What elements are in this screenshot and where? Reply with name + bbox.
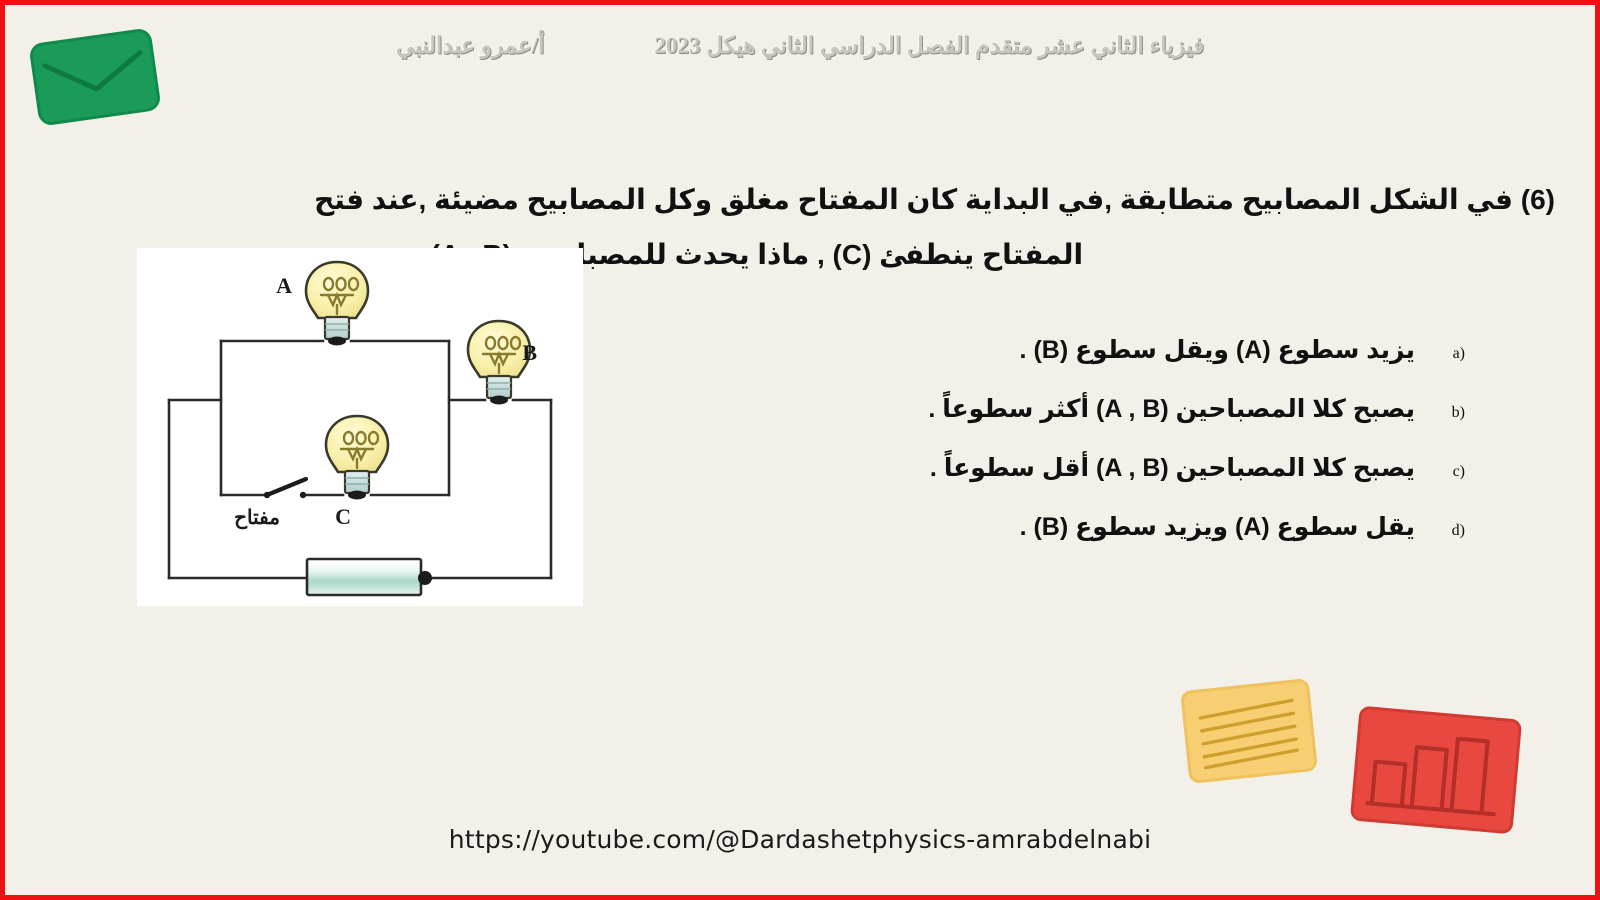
option-a-marker: a) bbox=[1431, 345, 1465, 363]
header-course-title: فيزياء الثاني عشر متقدم الفصل الدراسي ال… bbox=[654, 33, 1204, 59]
option-a[interactable]: يزيد سطوع (A) ويقل سطوع (B) . a) bbox=[145, 335, 1465, 394]
footer-url[interactable]: https://youtube.com/@Dardashetphysics-am… bbox=[5, 825, 1595, 854]
envelope-icon bbox=[28, 27, 162, 127]
option-c-text: يصبح كلا المصباحين (A , B) أقل سطوعاً . bbox=[145, 453, 1431, 483]
option-d[interactable]: يقل سطوع (A) ويزيد سطوع (B) . d) bbox=[145, 512, 1465, 571]
option-b-text: يصبح كلا المصباحين (A , B) أكثر سطوعاً . bbox=[145, 394, 1431, 424]
header-teacher-name: أ/عمرو عبدالنبي bbox=[396, 33, 545, 59]
slide-header: فيزياء الثاني عشر متقدم الفصل الدراسي ال… bbox=[5, 23, 1595, 69]
option-d-marker: d) bbox=[1431, 522, 1465, 540]
option-c[interactable]: يصبح كلا المصباحين (A , B) أقل سطوعاً . … bbox=[145, 453, 1465, 512]
options-list: يزيد سطوع (A) ويقل سطوع (B) . a) يصبح كل… bbox=[145, 335, 1465, 571]
option-b-marker: b) bbox=[1431, 404, 1465, 422]
bar-chart-icon bbox=[1348, 704, 1524, 836]
option-d-text: يقل سطوع (A) ويزيد سطوع (B) . bbox=[145, 512, 1431, 542]
option-c-marker: c) bbox=[1431, 463, 1465, 481]
option-b[interactable]: يصبح كلا المصباحين (A , B) أكثر سطوعاً .… bbox=[145, 394, 1465, 453]
option-a-text: يزيد سطوع (A) ويقل سطوع (B) . bbox=[145, 335, 1431, 365]
svg-text:A: A bbox=[276, 273, 292, 298]
slide-root: فيزياء الثاني عشر متقدم الفصل الدراسي ال… bbox=[0, 0, 1600, 900]
note-lines-icon bbox=[1178, 676, 1319, 785]
lamp-a bbox=[306, 262, 368, 346]
question-line-1: (6) في الشكل المصابيح متطابقة ,في البداي… bbox=[314, 184, 1555, 215]
